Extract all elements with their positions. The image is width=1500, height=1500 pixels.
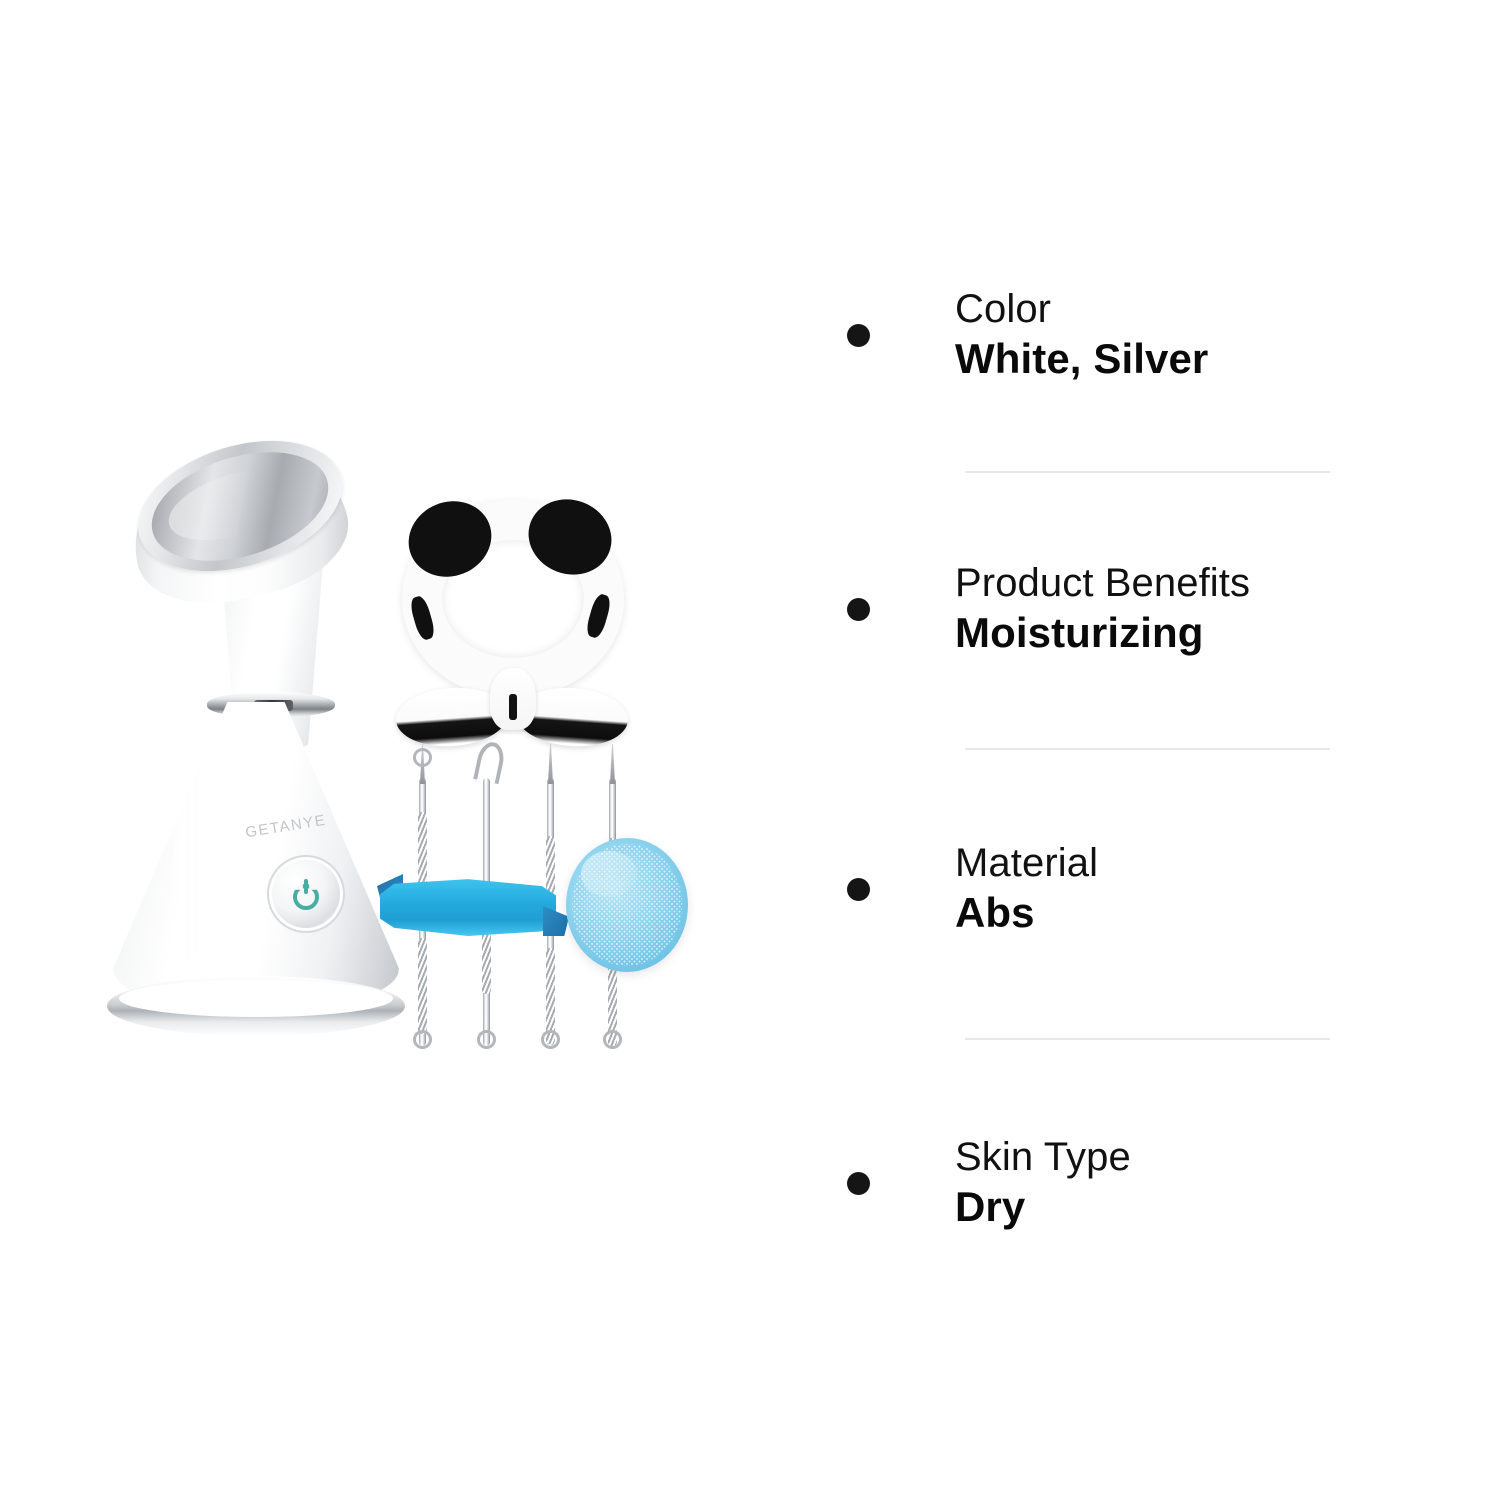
bullet-icon [847, 878, 870, 901]
spec-text-group: Material Abs [955, 840, 1098, 938]
bullet-icon [847, 598, 870, 621]
spec-row-skin-type: Skin Type Dry [760, 1134, 1500, 1232]
spa-headband-illustration [392, 492, 634, 760]
spec-divider-1 [965, 471, 1330, 473]
spec-text-group: Color White, Silver [955, 286, 1208, 384]
spec-row-color: Color White, Silver [760, 286, 1500, 384]
ribbon-fold-right [543, 906, 569, 936]
tool-knurl-1b [418, 938, 427, 1034]
product-image: GETANYE [0, 0, 760, 1500]
steamer-base-body [113, 702, 399, 1012]
spec-text-group: Product Benefits Moisturizing [955, 560, 1250, 658]
tool-loop-top-1 [413, 748, 432, 767]
tool-loop-bottom-2 [477, 1030, 496, 1049]
bullet-icon [847, 324, 870, 347]
product-specification-list: Color White, Silver Product Benefits Moi… [760, 0, 1500, 1500]
spec-value: Moisturizing [955, 608, 1250, 658]
spec-label: Color [955, 286, 1208, 332]
power-button[interactable] [272, 860, 340, 928]
spec-text-group: Skin Type Dry [955, 1134, 1131, 1232]
steamer-base-rim [107, 976, 405, 1036]
facial-steamer-illustration: GETANYE [95, 440, 415, 1060]
ribbon-banner [380, 878, 556, 936]
spec-divider-2 [965, 748, 1330, 750]
tool-loop-bottom-1 [413, 1030, 432, 1049]
silicone-cleansing-pad-illustration [566, 838, 688, 972]
spec-label: Product Benefits [955, 560, 1250, 606]
product-detail-canvas: GETANYE [0, 0, 1500, 1500]
bullet-icon [847, 1172, 870, 1195]
headband-bow-knot [490, 668, 536, 730]
tool-loop-bottom-3 [541, 1030, 560, 1049]
spec-label: Material [955, 840, 1098, 886]
spec-divider-3 [965, 1038, 1330, 1040]
spec-value: Abs [955, 888, 1098, 938]
spec-row-material: Material Abs [760, 840, 1500, 938]
power-icon [291, 879, 321, 909]
spec-label: Skin Type [955, 1134, 1131, 1180]
spec-row-product-benefits: Product Benefits Moisturizing [760, 560, 1500, 658]
spec-value: White, Silver [955, 334, 1208, 384]
tool-loop-bottom-4 [603, 1030, 622, 1049]
spec-value: Dry [955, 1182, 1131, 1232]
